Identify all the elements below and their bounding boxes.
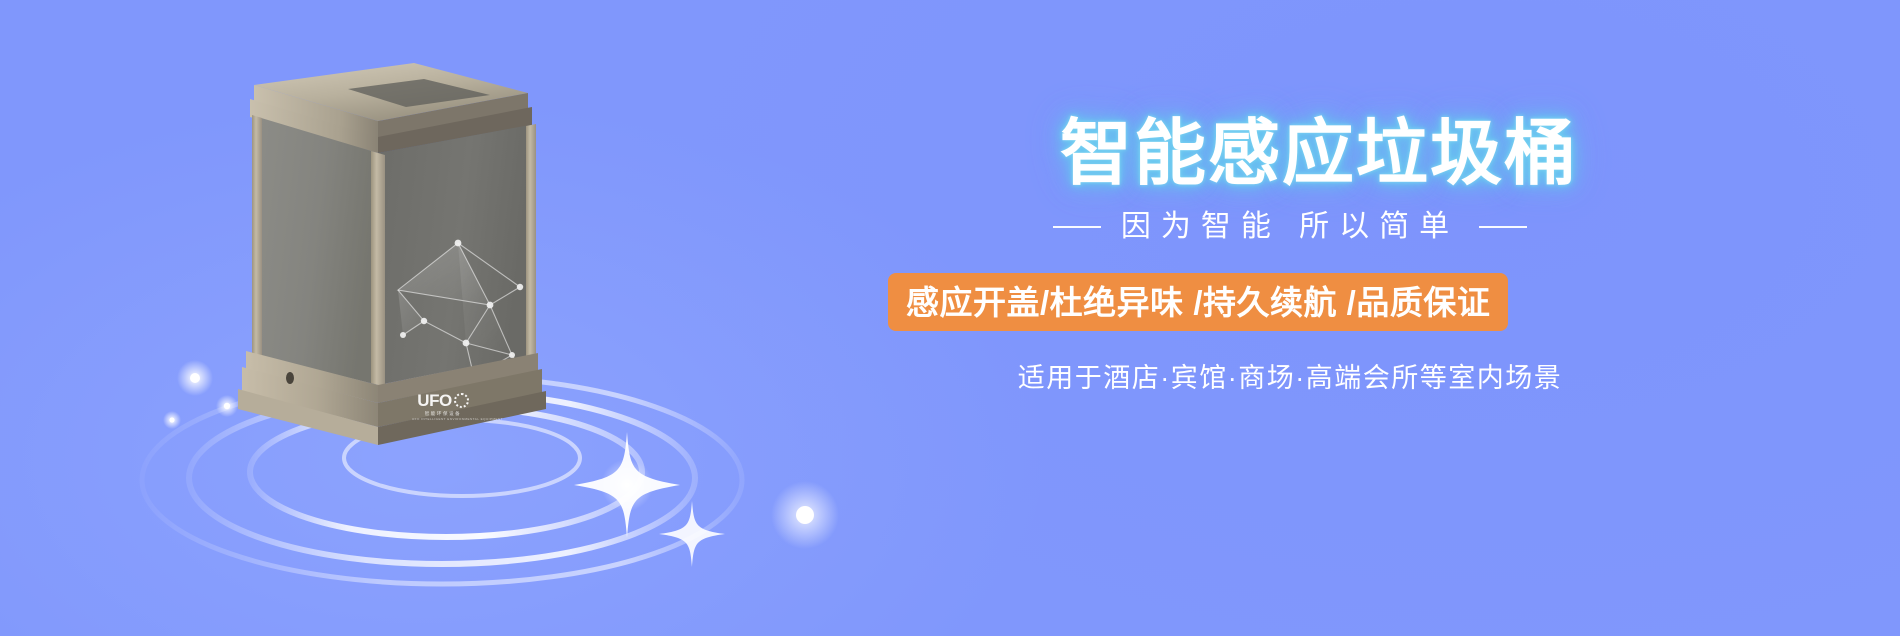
rule-left <box>1053 226 1101 228</box>
product-stage: UFO 智能环保设备 UFO INTELLIGENT ENVIRONMENTAL… <box>60 0 880 636</box>
glow-dot-icon <box>169 417 174 422</box>
trash-bin-illustration <box>228 55 548 455</box>
glow-dot-icon <box>190 373 200 383</box>
copy-block: 智能感应垃圾桶 因为智能 所以简单 感应开盖/杜绝异味 /持久续航 /品质保证 … <box>880 0 1880 636</box>
bin-frame-left <box>252 115 262 358</box>
feature-badge-text: 感应开盖/杜绝异味 /持久续航 /品质保证 <box>906 286 1490 319</box>
promo-banner: UFO 智能环保设备 UFO INTELLIGENT ENVIRONMENTAL… <box>0 0 1900 636</box>
bin-frame-center <box>371 151 385 387</box>
subtitle-row: 因为智能 所以简单 <box>880 212 1700 242</box>
bin-frame-right <box>526 124 536 358</box>
bin-panel-left <box>258 117 378 385</box>
feature-badge: 感应开盖/杜绝异味 /持久续航 /品质保证 <box>888 273 1508 331</box>
scene-text: 适用于酒店·宾馆·商场·高端会所等室内场景 <box>880 365 1700 392</box>
page-title: 智能感应垃圾桶 <box>1060 118 1578 190</box>
bin-base-port <box>286 372 294 384</box>
rule-right <box>1479 226 1527 228</box>
subtitle-text: 因为智能 所以简单 <box>1121 212 1459 242</box>
